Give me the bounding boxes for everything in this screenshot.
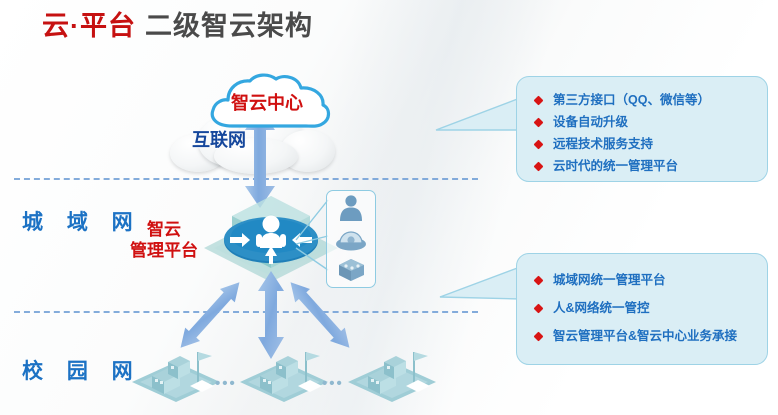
diagram-canvas: 云·平台二级智云架构 城 域 网 校 园 网 互联网 智云中心 <box>0 0 778 415</box>
page-title: 云·平台二级智云架构 <box>42 4 313 43</box>
page-title-dark: 二级智云架构 <box>145 11 313 41</box>
layer-label-metro: 城 域 网 <box>22 206 142 236</box>
callout-cloud-features: 第三方接口（QQ、微信等） 设备自动升级 远程技术服务支持 云时代的统一管理平台 <box>516 76 768 182</box>
list-item: 第三方接口（QQ、微信等） <box>533 89 767 111</box>
list-item: 城域网统一管理平台 <box>533 266 767 294</box>
callout-tail-top <box>436 96 520 144</box>
page-title-red: 云·平台 <box>42 11 136 41</box>
callout-platform-features: 城域网统一管理平台 人&网络统一管控 智云管理平台&智云中心业务承接 <box>516 253 768 365</box>
list-item: 人&网络统一管控 <box>533 294 767 322</box>
list-item: 云时代的统一管理平台 <box>533 155 767 177</box>
callout-top-list: 第三方接口（QQ、微信等） 设备自动升级 远程技术服务支持 云时代的统一管理平台 <box>517 77 767 177</box>
cloud-dome-icon <box>334 224 368 252</box>
list-item: 设备自动升级 <box>533 111 767 133</box>
school-node <box>236 340 332 406</box>
school-building-icon <box>128 340 224 406</box>
platform-label-line-1: 智云 <box>130 219 198 240</box>
list-item: 智云管理平台&智云中心业务承接 <box>533 322 767 350</box>
callout-bottom-list: 城域网统一管理平台 人&网络统一管控 智云管理平台&智云中心业务承接 <box>517 254 767 350</box>
school-node <box>344 340 440 406</box>
layer-label-campus: 校 园 网 <box>22 355 142 385</box>
school-node <box>128 340 224 406</box>
ellipsis-separator: ••• <box>322 375 344 392</box>
school-building-icon <box>236 340 332 406</box>
school-building-icon <box>344 340 440 406</box>
ellipsis-separator: ••• <box>215 375 237 392</box>
list-item: 远程技术服务支持 <box>533 133 767 155</box>
callout-tail-bottom <box>440 265 520 317</box>
platform-label-line-2: 管理平台 <box>130 240 198 261</box>
management-platform-label: 智云 管理平台 <box>130 219 198 261</box>
person-icon <box>334 194 368 222</box>
cloud-smart-center-label: 智云中心 <box>231 89 303 115</box>
